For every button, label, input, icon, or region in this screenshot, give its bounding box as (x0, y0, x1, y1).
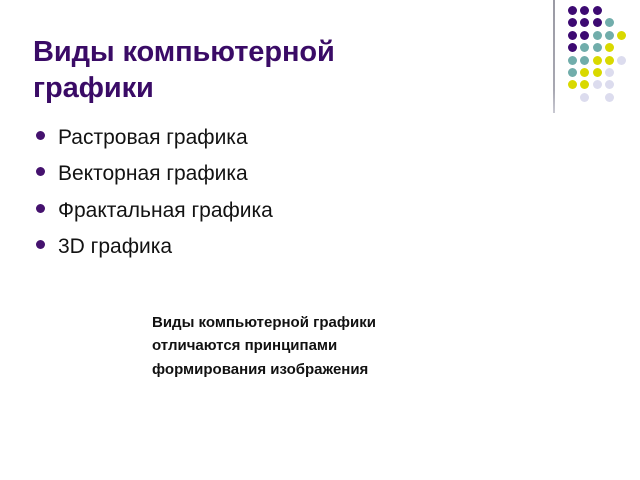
dot-purple-icon (568, 6, 577, 15)
list-item-label: Векторная графика (58, 160, 248, 187)
bullet-dot-icon (36, 167, 45, 176)
dot-purple-icon (580, 18, 589, 27)
dot-grid-row (568, 18, 640, 30)
list-item: Векторная графика (36, 160, 506, 187)
dot-spacer (617, 43, 626, 52)
dot-purple-icon (568, 31, 577, 40)
dot-teal-icon (605, 18, 614, 27)
dot-purple-icon (580, 6, 589, 15)
dot-spacer (605, 6, 614, 15)
dot-grid-row (568, 56, 640, 68)
dot-yellow-icon (617, 31, 626, 40)
dot-yellow-icon (580, 80, 589, 89)
caption-line: отличаются принципами (152, 334, 502, 357)
vertical-divider (553, 0, 555, 113)
dot-spacer (617, 68, 626, 77)
decorative-dot-grid (568, 6, 640, 110)
dot-grid-row (568, 68, 640, 80)
dot-yellow-icon (605, 56, 614, 65)
dot-teal-icon (580, 56, 589, 65)
dot-grid-row (568, 31, 640, 43)
dot-lavender-icon (617, 56, 626, 65)
dot-purple-icon (568, 18, 577, 27)
dot-yellow-icon (593, 56, 602, 65)
list-item: Растровая графика (36, 124, 506, 151)
dot-spacer (568, 93, 577, 102)
dot-grid-row (568, 80, 640, 92)
dot-teal-icon (605, 31, 614, 40)
dot-yellow-icon (605, 43, 614, 52)
slide-canvas: Виды компьютерной графики Растровая граф… (0, 0, 640, 480)
bullet-dot-icon (36, 240, 45, 249)
bullet-dot-icon (36, 131, 45, 140)
dot-yellow-icon (593, 68, 602, 77)
dot-lavender-icon (593, 80, 602, 89)
caption-block: Виды компьютерной графики отличаются при… (152, 311, 502, 381)
dot-purple-icon (593, 6, 602, 15)
dot-lavender-icon (605, 68, 614, 77)
dot-lavender-icon (605, 93, 614, 102)
dot-teal-icon (593, 31, 602, 40)
dot-grid-row (568, 6, 640, 18)
dot-spacer (593, 93, 602, 102)
dot-spacer (617, 93, 626, 102)
dot-grid-row (568, 93, 640, 105)
list-item: Фрактальная графика (36, 197, 506, 224)
caption-line: формирования изображения (152, 358, 502, 381)
dot-lavender-icon (580, 93, 589, 102)
caption-line: Виды компьютерной графики (152, 311, 502, 334)
list-item-label: Фрактальная графика (58, 197, 273, 224)
dot-yellow-icon (568, 80, 577, 89)
dot-purple-icon (593, 18, 602, 27)
page-title: Виды компьютерной графики (33, 35, 453, 106)
dot-teal-icon (568, 56, 577, 65)
list-item: 3D графика (36, 233, 506, 260)
dot-lavender-icon (605, 80, 614, 89)
dot-spacer (617, 80, 626, 89)
bullet-dot-icon (36, 204, 45, 213)
dot-teal-icon (593, 43, 602, 52)
graphics-types-list: Растровая графика Векторная графика Фрак… (36, 124, 506, 269)
dot-teal-icon (580, 43, 589, 52)
dot-yellow-icon (580, 68, 589, 77)
dot-teal-icon (568, 68, 577, 77)
dot-spacer (617, 6, 626, 15)
list-item-label: Растровая графика (58, 124, 248, 151)
dot-purple-icon (568, 43, 577, 52)
dot-grid-row (568, 43, 640, 55)
list-item-label: 3D графика (58, 233, 172, 260)
dot-spacer (617, 18, 626, 27)
dot-purple-icon (580, 31, 589, 40)
